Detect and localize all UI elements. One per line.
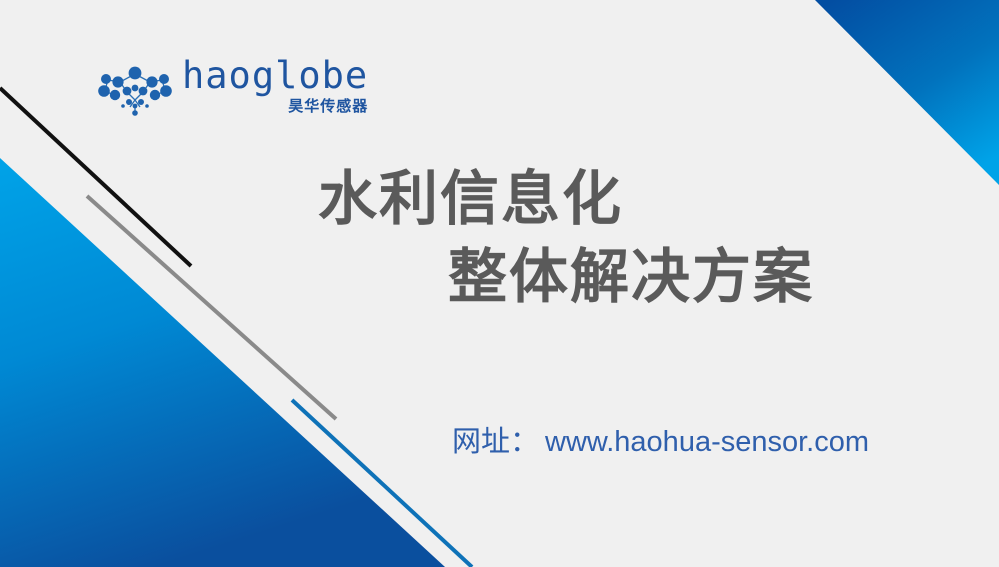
page-title: 水利信息化 整体解决方案 <box>0 160 999 316</box>
website-line[interactable]: 网址： www.haohua-sensor.com <box>452 418 869 460</box>
logo-wordmark: haoglobe <box>182 58 368 93</box>
presentation-title-slide: haoglobe 昊华传感器 水利信息化 整体解决方案 网址： www.haoh… <box>0 0 999 567</box>
title-line-1: 水利信息化 <box>318 160 999 238</box>
logo-text-block: haoglobe 昊华传感器 <box>182 58 368 116</box>
haoglobe-molecule-logo-icon <box>96 62 174 118</box>
website-url[interactable]: www.haohua-sensor.com <box>545 426 869 459</box>
accent-line-blue <box>292 400 472 567</box>
logo-chinese-name: 昊华传感器 <box>288 95 368 116</box>
title-line-2: 整体解决方案 <box>448 238 999 316</box>
company-logo[interactable]: haoglobe 昊华传感器 <box>96 58 368 124</box>
top-right-blue-wedge <box>815 0 999 185</box>
website-label: 网址： <box>452 418 539 460</box>
